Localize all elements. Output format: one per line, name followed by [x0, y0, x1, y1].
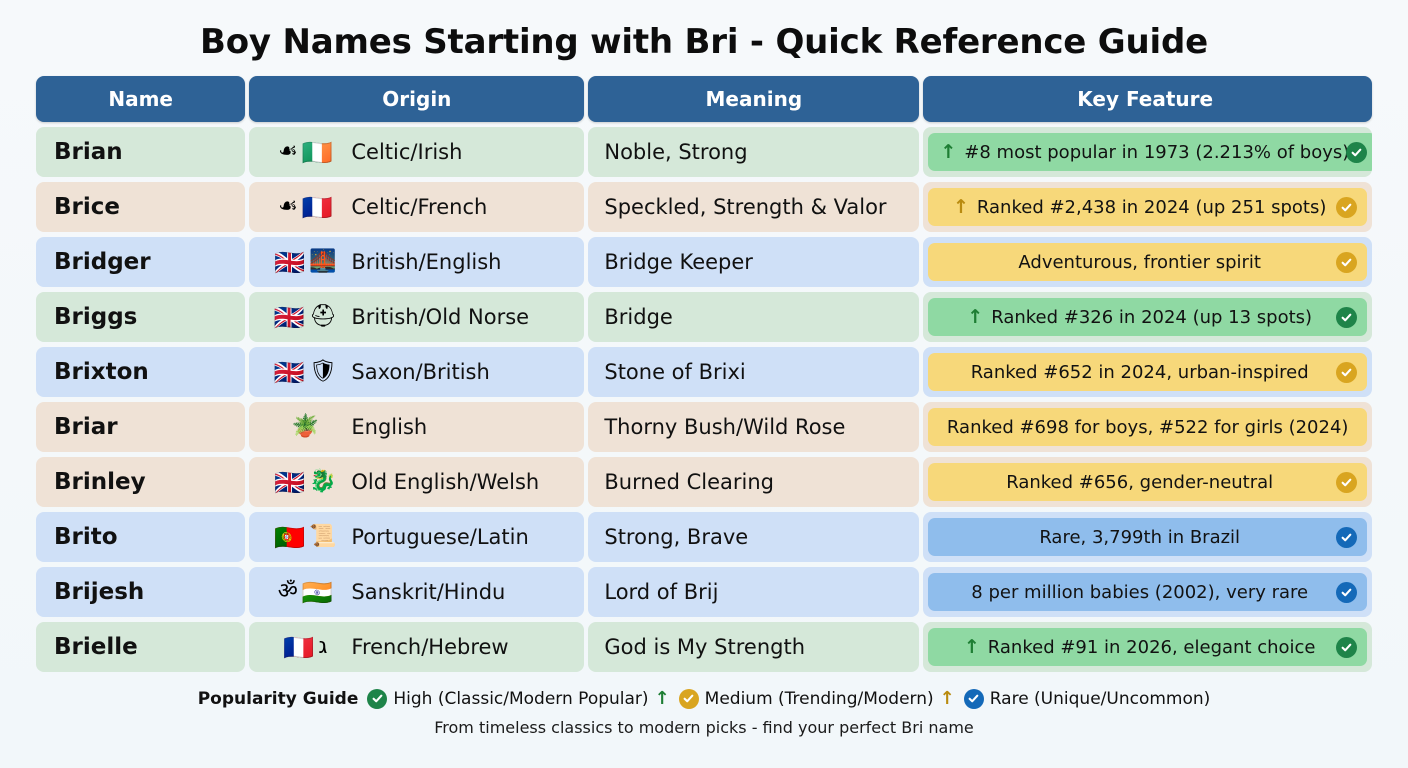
green-check-icon	[367, 689, 387, 709]
popularity-pill[interactable]: ↑Ranked #91 in 2026, elegant choice	[928, 628, 1367, 666]
meaning-cell: Bridge Keeper	[588, 237, 919, 287]
origin-text: Sanskrit/Hindu	[351, 580, 505, 604]
meaning-text: Stone of Brixi	[604, 360, 745, 384]
legend-item-label: Rare (Unique/Uncommon)	[990, 689, 1211, 709]
pill-content: Rare, 3,799th in Brazil	[1039, 527, 1240, 548]
legend-item: Medium (Trending/Modern)↑	[679, 688, 955, 709]
origin-cell: 🪴English	[249, 402, 584, 452]
name-cell: Briar	[36, 402, 245, 452]
meaning-cell: God is My Strength	[588, 622, 919, 672]
name-text: Brijesh	[54, 581, 144, 604]
key-feature-text: Ranked #698 for boys, #522 for girls (20…	[947, 417, 1349, 438]
hebrew-letter-icon: ג	[318, 636, 327, 658]
uk-flag-icon: 🇬🇧	[274, 250, 305, 275]
key-feature-text: 8 per million babies (2002), very rare	[971, 582, 1308, 603]
scroll-icon: 📜	[309, 526, 336, 548]
origin-cell: 🇵🇹📜Portuguese/Latin	[249, 512, 584, 562]
meaning-cell: Burned Clearing	[588, 457, 919, 507]
origin-text: British/English	[351, 250, 501, 274]
pill-content: Ranked #656, gender-neutral	[1006, 472, 1273, 493]
green-check-icon	[1336, 637, 1357, 658]
pill-content: Adventurous, frontier spirit	[1018, 252, 1261, 273]
origin-icon-group: 🇬🇧🐉	[259, 470, 351, 495]
column-header-origin: Origin	[249, 76, 584, 122]
green-check-icon	[1346, 142, 1367, 163]
india-flag-icon: 🇮🇳	[302, 580, 333, 605]
table-row[interactable]: Bridger🇬🇧🌉British/EnglishBridge KeeperAd…	[36, 237, 1372, 287]
key-feature-cell: ↑Ranked #2,438 in 2024 (up 251 spots)	[923, 182, 1372, 232]
name-cell: Brice	[36, 182, 245, 232]
table-row[interactable]: Briar🪴EnglishThorny Bush/Wild RoseRanked…	[36, 402, 1372, 452]
name-cell: Brian	[36, 127, 245, 177]
amber-check-icon	[1336, 362, 1357, 383]
key-feature-cell: Ranked #698 for boys, #522 for girls (20…	[923, 402, 1372, 452]
legend-item: Rare (Unique/Uncommon)	[964, 689, 1211, 709]
pill-content: ↑Ranked #326 in 2024 (up 13 spots)	[967, 307, 1312, 328]
key-feature-cell: ↑Ranked #91 in 2026, elegant choice	[923, 622, 1372, 672]
welsh-dragon-icon: 🐉	[309, 471, 336, 493]
blue-check-icon	[964, 689, 984, 709]
names-table: Name Origin Meaning Key Feature Brian☙🇮🇪…	[36, 76, 1372, 672]
popularity-legend: Popularity Guide High (Classic/Modern Po…	[0, 677, 1408, 709]
meaning-text: Lord of Brij	[604, 580, 718, 604]
table-row[interactable]: Brito🇵🇹📜Portuguese/LatinStrong, BraveRar…	[36, 512, 1372, 562]
key-feature-text: Ranked #91 in 2026, elegant choice	[988, 637, 1316, 658]
table-row[interactable]: Brielle🇫🇷גFrench/HebrewGod is My Strengt…	[36, 622, 1372, 672]
name-cell: Brijesh	[36, 567, 245, 617]
blue-check-icon	[1336, 527, 1357, 548]
name-cell: Brinley	[36, 457, 245, 507]
celtic-knot-icon: ☙	[278, 141, 298, 163]
pill-content: Ranked #652 in 2024, urban-inspired	[971, 362, 1309, 383]
trend-up-arrow-icon: ↑	[940, 143, 956, 162]
key-feature-cell: Ranked #652 in 2024, urban-inspired	[923, 347, 1372, 397]
page-title: Boy Names Starting with Bri - Quick Refe…	[0, 0, 1408, 76]
table-row[interactable]: Brian☙🇮🇪Celtic/IrishNoble, Strong↑#8 mos…	[36, 127, 1372, 177]
origin-icon-group: 🇬🇧⛑	[259, 305, 351, 330]
popularity-pill[interactable]: ↑Ranked #326 in 2024 (up 13 spots)	[928, 298, 1367, 336]
green-check-icon	[1336, 307, 1357, 328]
origin-icon-group: 🪴	[259, 416, 351, 438]
column-header-key-feature: Key Feature	[923, 76, 1372, 122]
uk-flag-icon: 🇬🇧	[274, 360, 305, 385]
table-body: Brian☙🇮🇪Celtic/IrishNoble, Strong↑#8 mos…	[36, 127, 1372, 672]
origin-cell: 🇬🇧⛑British/Old Norse	[249, 292, 584, 342]
popularity-pill[interactable]: Adventurous, frontier spirit	[928, 243, 1367, 281]
key-feature-text: Adventurous, frontier spirit	[1018, 252, 1261, 273]
amber-check-icon	[1336, 252, 1357, 273]
key-feature-cell: Rare, 3,799th in Brazil	[923, 512, 1372, 562]
legend-item-label: High (Classic/Modern Popular)	[393, 689, 648, 709]
popularity-pill[interactable]: Ranked #652 in 2024, urban-inspired	[928, 353, 1367, 391]
bridge-icon: 🌉	[309, 251, 336, 273]
origin-icon-group: ☙🇮🇪	[259, 140, 351, 165]
key-feature-cell: ↑Ranked #326 in 2024 (up 13 spots)	[923, 292, 1372, 342]
origin-text: French/Hebrew	[351, 635, 508, 659]
meaning-text: Thorny Bush/Wild Rose	[604, 415, 845, 439]
origin-text: Old English/Welsh	[351, 470, 539, 494]
trend-up-arrow-icon: ↑	[953, 198, 969, 217]
pill-content: ↑Ranked #91 in 2026, elegant choice	[964, 637, 1316, 658]
blue-check-icon	[1336, 582, 1357, 603]
celtic-knot-icon: ☙	[278, 196, 298, 218]
meaning-cell: Strong, Brave	[588, 512, 919, 562]
origin-text: British/Old Norse	[351, 305, 529, 329]
origin-icon-group: 🇬🇧🌉	[259, 250, 351, 275]
origin-icon-group: ॐ🇮🇳	[259, 580, 351, 605]
name-text: Bridger	[54, 251, 151, 274]
origin-cell: ॐ🇮🇳Sanskrit/Hindu	[249, 567, 584, 617]
france-flag-icon: 🇫🇷	[302, 195, 333, 220]
trend-up-arrow-icon: ↑	[940, 688, 955, 709]
column-header-meaning: Meaning	[588, 76, 919, 122]
key-feature-cell: Adventurous, frontier spirit	[923, 237, 1372, 287]
origin-cell: 🇫🇷גFrench/Hebrew	[249, 622, 584, 672]
key-feature-cell: ↑#8 most popular in 1973 (2.213% of boys…	[923, 127, 1372, 177]
name-text: Briggs	[54, 306, 137, 329]
key-feature-text: Ranked #656, gender-neutral	[1006, 472, 1273, 493]
trend-up-arrow-icon: ↑	[964, 638, 980, 657]
name-text: Brian	[54, 141, 123, 164]
popularity-pill[interactable]: 8 per million babies (2002), very rare	[928, 573, 1367, 611]
legend-item-label: Medium (Trending/Modern)	[705, 689, 934, 709]
popularity-pill[interactable]: Ranked #698 for boys, #522 for girls (20…	[928, 408, 1367, 446]
origin-text: English	[351, 415, 427, 439]
key-feature-cell: Ranked #656, gender-neutral	[923, 457, 1372, 507]
amber-check-icon	[1336, 197, 1357, 218]
popularity-pill[interactable]: ↑Ranked #2,438 in 2024 (up 251 spots)	[928, 188, 1367, 226]
table-header-row: Name Origin Meaning Key Feature	[36, 76, 1372, 122]
origin-cell: 🇬🇧🌉British/English	[249, 237, 584, 287]
shield-icon: 🛡	[309, 361, 337, 383]
origin-icon-group: ☙🇫🇷	[259, 195, 351, 220]
name-text: Brito	[54, 526, 118, 549]
name-text: Brielle	[54, 636, 138, 659]
meaning-cell: Speckled, Strength & Valor	[588, 182, 919, 232]
trend-up-arrow-icon: ↑	[655, 688, 670, 709]
key-feature-text: Ranked #2,438 in 2024 (up 251 spots)	[977, 197, 1326, 218]
pill-content: 8 per million babies (2002), very rare	[971, 582, 1308, 603]
amber-check-icon	[679, 689, 699, 709]
table-row[interactable]: Brinley🇬🇧🐉Old English/WelshBurned Cleari…	[36, 457, 1372, 507]
popularity-pill[interactable]: Ranked #656, gender-neutral	[928, 463, 1367, 501]
origin-text: Celtic/French	[351, 195, 487, 219]
name-cell: Brixton	[36, 347, 245, 397]
meaning-cell: Lord of Brij	[588, 567, 919, 617]
origin-icon-group: 🇬🇧🛡	[259, 360, 351, 385]
name-text: Briar	[54, 416, 118, 439]
origin-text: Portuguese/Latin	[351, 525, 528, 549]
key-feature-text: Ranked #326 in 2024 (up 13 spots)	[991, 307, 1312, 328]
key-feature-cell: 8 per million babies (2002), very rare	[923, 567, 1372, 617]
name-cell: Brito	[36, 512, 245, 562]
meaning-cell: Bridge	[588, 292, 919, 342]
trend-up-arrow-icon: ↑	[967, 308, 983, 327]
origin-text: Celtic/Irish	[351, 140, 462, 164]
origin-cell: ☙🇮🇪Celtic/Irish	[249, 127, 584, 177]
thorn-bush-icon: 🪴	[292, 416, 319, 438]
uk-flag-icon: 🇬🇧	[274, 470, 305, 495]
meaning-text: Bridge Keeper	[604, 250, 753, 274]
table-row[interactable]: Brixton🇬🇧🛡Saxon/BritishStone of BrixiRan…	[36, 347, 1372, 397]
meaning-cell: Thorny Bush/Wild Rose	[588, 402, 919, 452]
popularity-pill[interactable]: Rare, 3,799th in Brazil	[928, 518, 1367, 556]
name-text: Brixton	[54, 361, 149, 384]
origin-text: Saxon/British	[351, 360, 489, 384]
key-feature-text: #8 most popular in 1973 (2.213% of boys)	[964, 142, 1349, 163]
meaning-cell: Stone of Brixi	[588, 347, 919, 397]
origin-cell: ☙🇫🇷Celtic/French	[249, 182, 584, 232]
pill-content: Ranked #698 for boys, #522 for girls (20…	[947, 417, 1349, 438]
meaning-text: Strong, Brave	[604, 525, 748, 549]
popularity-pill[interactable]: ↑#8 most popular in 1973 (2.213% of boys…	[928, 133, 1372, 171]
uk-flag-icon: 🇬🇧	[274, 305, 305, 330]
table-row[interactable]: Brice☙🇫🇷Celtic/FrenchSpeckled, Strength …	[36, 182, 1372, 232]
key-feature-text: Ranked #652 in 2024, urban-inspired	[971, 362, 1309, 383]
meaning-text: God is My Strength	[604, 635, 805, 659]
origin-icon-group: 🇫🇷ג	[259, 635, 351, 660]
meaning-text: Burned Clearing	[604, 470, 774, 494]
legend-item: High (Classic/Modern Popular)↑	[367, 688, 669, 709]
legend-title: Popularity Guide	[198, 689, 359, 709]
name-cell: Bridger	[36, 237, 245, 287]
column-header-name: Name	[36, 76, 245, 122]
origin-icon-group: 🇵🇹📜	[259, 525, 351, 550]
viking-helmet-icon: ⛑	[309, 306, 337, 328]
name-cell: Brielle	[36, 622, 245, 672]
meaning-text: Speckled, Strength & Valor	[604, 195, 886, 219]
om-symbol-icon: ॐ	[278, 581, 298, 603]
name-text: Brice	[54, 196, 120, 219]
france-flag-icon: 🇫🇷	[283, 635, 314, 660]
tagline: From timeless classics to modern picks -…	[0, 709, 1408, 737]
portugal-flag-icon: 🇵🇹	[274, 525, 305, 550]
pill-content: ↑Ranked #2,438 in 2024 (up 251 spots)	[953, 197, 1326, 218]
origin-cell: 🇬🇧🛡Saxon/British	[249, 347, 584, 397]
legend-items: High (Classic/Modern Popular)↑Medium (Tr…	[367, 688, 1210, 709]
name-text: Brinley	[54, 471, 146, 494]
reference-guide-page: Boy Names Starting with Bri - Quick Refe…	[0, 0, 1408, 768]
ireland-flag-icon: 🇮🇪	[302, 140, 333, 165]
pill-content: ↑#8 most popular in 1973 (2.213% of boys…	[940, 142, 1349, 163]
meaning-text: Bridge	[604, 305, 672, 329]
table-row[interactable]: Briggs🇬🇧⛑British/Old NorseBridge↑Ranked …	[36, 292, 1372, 342]
amber-check-icon	[1336, 472, 1357, 493]
table-row[interactable]: Brijeshॐ🇮🇳Sanskrit/HinduLord of Brij8 pe…	[36, 567, 1372, 617]
meaning-text: Noble, Strong	[604, 140, 747, 164]
name-cell: Briggs	[36, 292, 245, 342]
origin-cell: 🇬🇧🐉Old English/Welsh	[249, 457, 584, 507]
key-feature-text: Rare, 3,799th in Brazil	[1039, 527, 1240, 548]
meaning-cell: Noble, Strong	[588, 127, 919, 177]
